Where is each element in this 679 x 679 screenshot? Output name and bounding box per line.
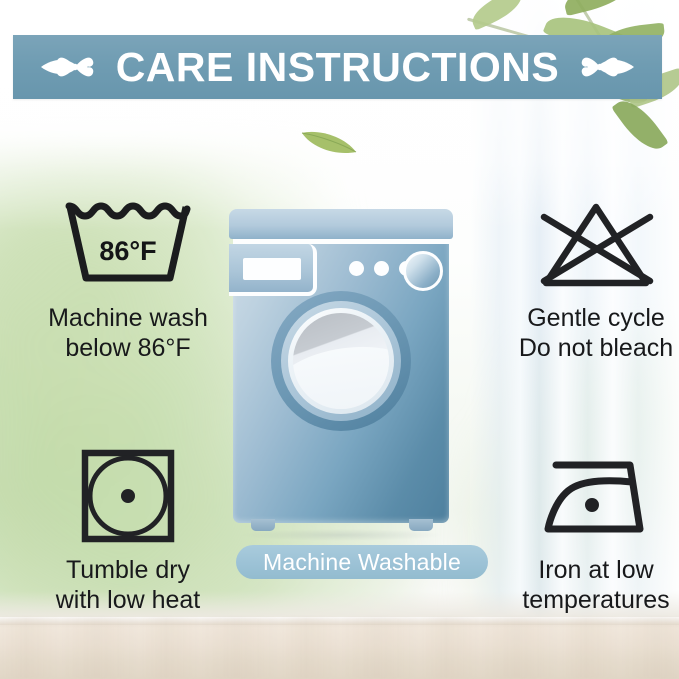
wooden-table-grain [0, 617, 679, 679]
washer-foot-left [251, 519, 275, 531]
fleur-de-lis-right-icon [562, 45, 638, 89]
iron-symbol [486, 444, 679, 548]
care-item-caption: Iron at low temperatures [486, 556, 679, 615]
do-not-bleach-symbol [486, 192, 679, 296]
triangle-crossed-out-icon [530, 197, 662, 291]
caption-line-1: Machine wash [18, 304, 238, 334]
tumble-dry-low-icon [79, 447, 177, 545]
falling-leaf-icon [300, 126, 358, 156]
caption-line-2: Do not bleach [486, 334, 679, 364]
caption-line-1: Tumble dry [18, 556, 238, 586]
control-button-2 [374, 261, 389, 276]
door-glass [293, 313, 389, 409]
drawer-handle-slot [243, 258, 301, 280]
caption-line-2: with low heat [18, 586, 238, 616]
caption-line-2: temperatures [486, 586, 679, 616]
machine-washable-badge: Machine Washable [236, 545, 488, 579]
detergent-drawer [229, 244, 317, 296]
control-dial [403, 251, 443, 291]
page-title: CARE INSTRUCTIONS [116, 44, 560, 91]
tumble-dry-symbol [18, 444, 238, 548]
care-item-do-not-bleach: Gentle cycle Do not bleach [486, 192, 679, 363]
header-banner: CARE INSTRUCTIONS [13, 35, 662, 99]
badge-label: Machine Washable [263, 549, 461, 576]
caption-line-1: Iron at low [486, 556, 679, 586]
control-button-1 [349, 261, 364, 276]
iron-one-dot-icon [534, 451, 658, 541]
care-item-machine-wash: 86°F Machine wash below 86°F [18, 192, 238, 363]
fleur-de-lis-left-icon [37, 45, 113, 89]
care-instructions-graphic: CARE INSTRUCTIONS 86°F Machine wash belo… [0, 0, 679, 679]
care-item-caption: Machine wash below 86°F [18, 304, 238, 363]
care-item-iron-low: Iron at low temperatures [486, 444, 679, 615]
wash-tub-symbol: 86°F [18, 192, 238, 296]
washing-machine-illustration [229, 209, 453, 535]
washer-foot-right [409, 519, 433, 531]
caption-line-2: below 86°F [18, 334, 238, 364]
washer-top-lid [229, 209, 453, 239]
wash-temperature-value: 86°F [18, 236, 238, 267]
care-item-tumble-dry: Tumble dry with low heat [18, 444, 238, 615]
care-item-caption: Gentle cycle Do not bleach [486, 304, 679, 363]
care-item-caption: Tumble dry with low heat [18, 556, 238, 615]
caption-line-1: Gentle cycle [486, 304, 679, 334]
